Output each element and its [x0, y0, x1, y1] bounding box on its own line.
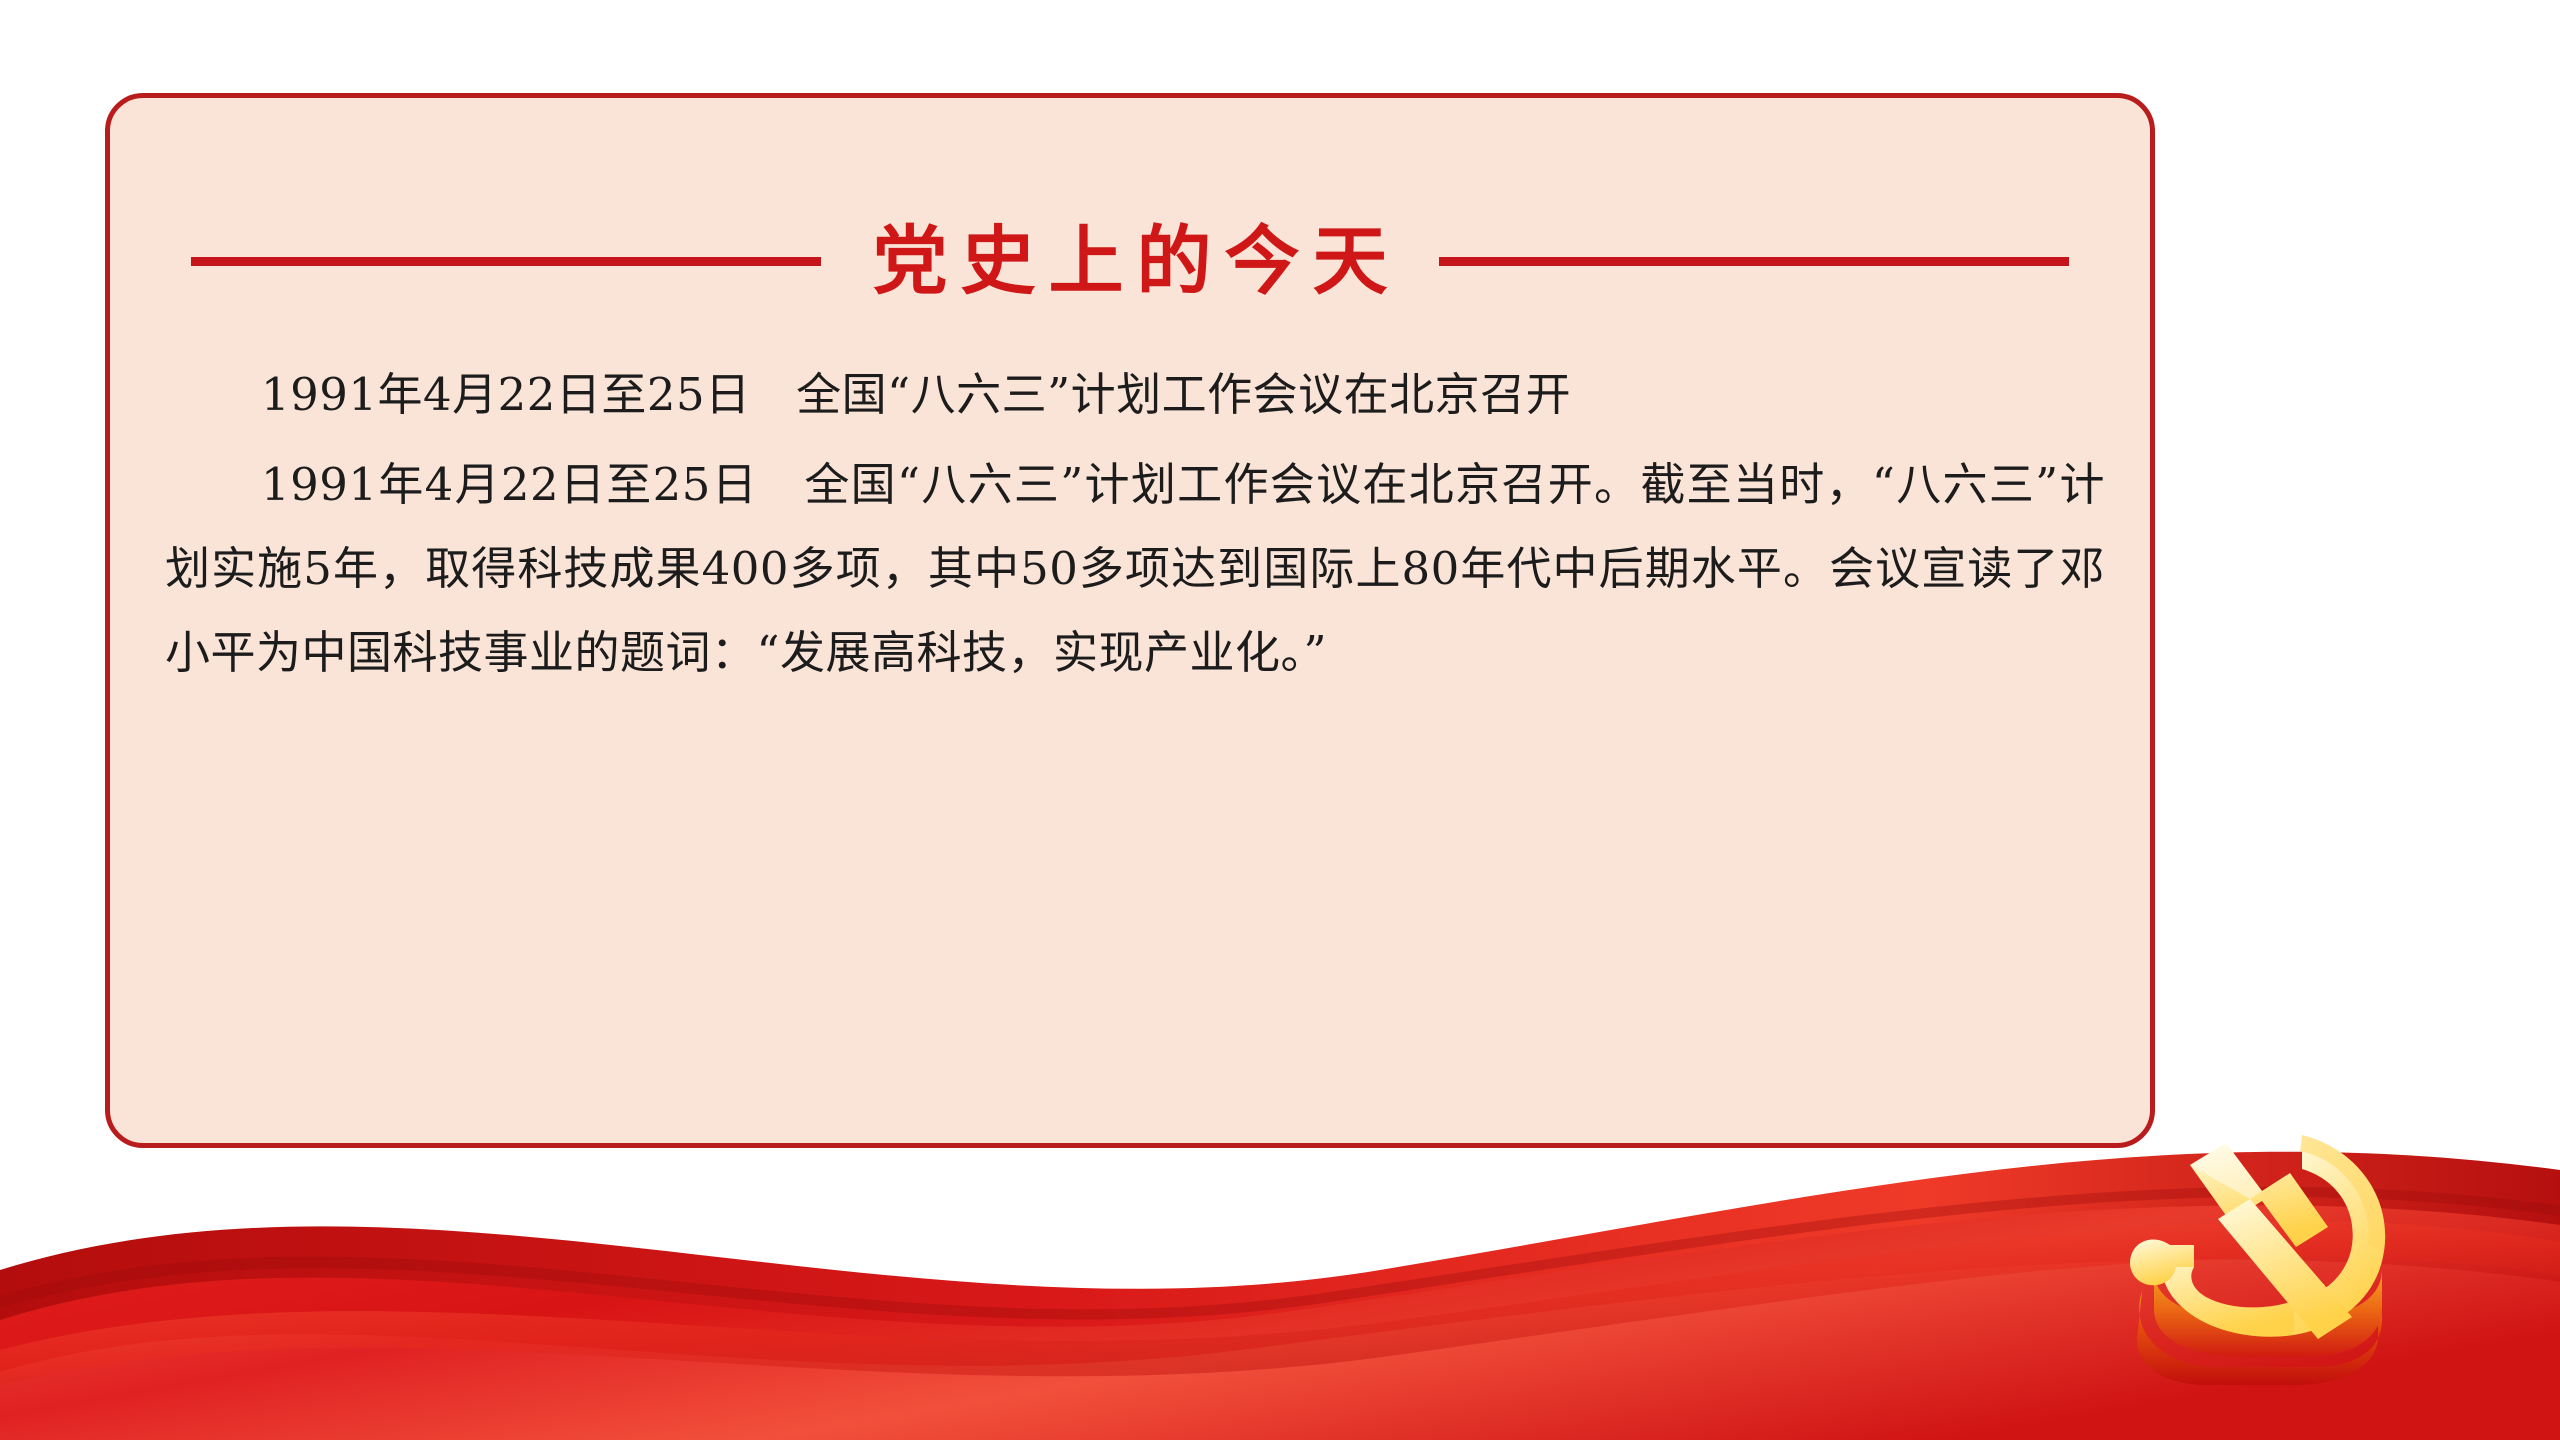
article-body: 1991年4月22日至25日 全国“八六三”计划工作会议在北京召开 1991年4…: [165, 353, 2105, 695]
ccp-hammer-sickle-emblem-icon: [2090, 1095, 2420, 1395]
page-title: 党史上的今天: [859, 224, 1400, 299]
title-rule-left-icon: [191, 257, 821, 266]
title-rule-right-icon: [1439, 257, 2069, 266]
article-paragraph-detail: 1991年4月22日至25日 全国“八六三”计划工作会议在北京召开。截至当时，“…: [165, 443, 2105, 695]
slide-canvas: 党史上的今天 1991年4月22日至25日 全国“八六三”计划工作会议在北京召开…: [0, 0, 2560, 1440]
content-panel: 党史上的今天 1991年4月22日至25日 全国“八六三”计划工作会议在北京召开…: [105, 93, 2155, 1148]
title-row: 党史上的今天: [110, 206, 2150, 316]
article-paragraph-headline: 1991年4月22日至25日 全国“八六三”计划工作会议在北京召开: [165, 353, 2105, 437]
